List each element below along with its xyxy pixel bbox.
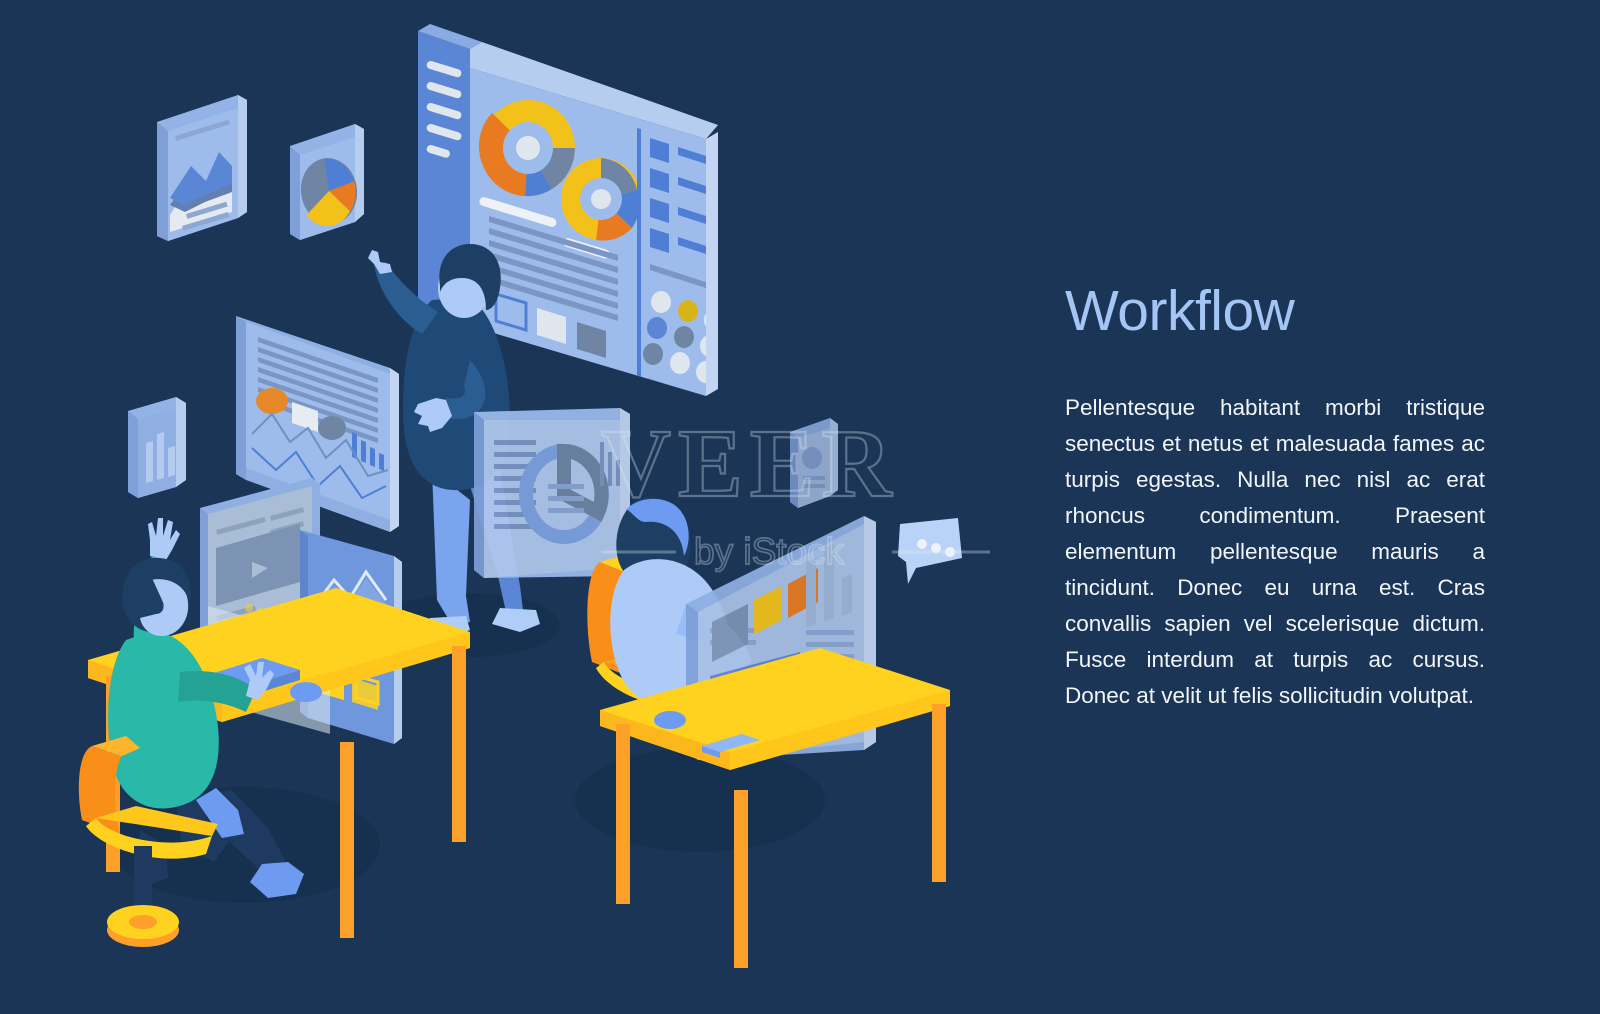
area-chart-tile: [157, 95, 247, 241]
workflow-illustration: [0, 0, 1060, 1014]
illustration-canvas: VEER by iStock Workflow Pellentesque hab…: [0, 0, 1600, 1014]
bar-chart-tile: [128, 397, 186, 498]
text-panel: Workflow Pellentesque habitant morbi tri…: [1065, 282, 1485, 714]
donut-chart-small: [561, 158, 641, 241]
page-title: Workflow: [1065, 282, 1485, 342]
donut-glass-panel: [474, 408, 630, 578]
pie-chart-tile: [290, 124, 364, 240]
small-photo-tile: [790, 418, 838, 508]
chat-bubble-tile: [898, 518, 962, 584]
body-paragraph: Pellentesque habitant morbi tristique se…: [1065, 390, 1485, 714]
donut-chart-large: [479, 100, 575, 196]
